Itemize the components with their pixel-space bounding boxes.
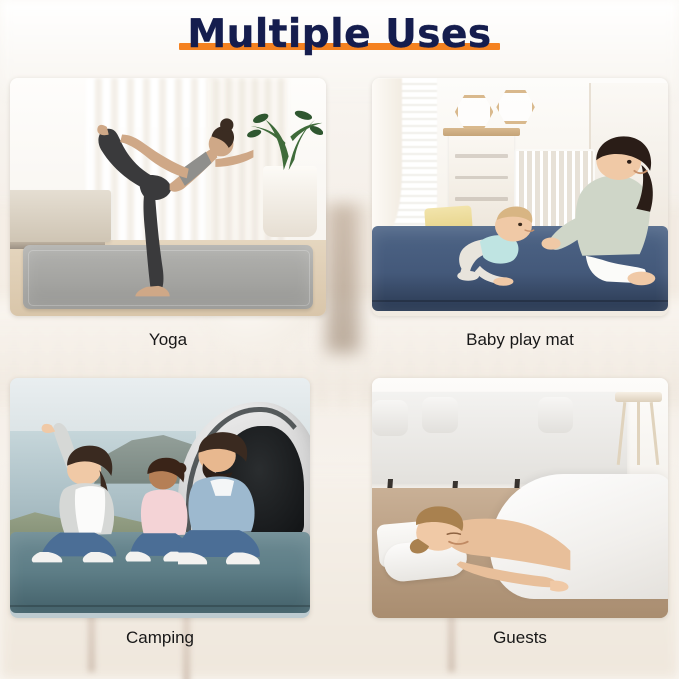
poster-title-block: Multiple Uses (0, 14, 679, 56)
use-case-card-baby-play-mat[interactable]: Baby play mat (372, 78, 668, 316)
use-case-card-camping[interactable]: Camping (10, 378, 310, 618)
photo-guests (372, 378, 668, 618)
sofa-bolster-cushion (538, 397, 574, 433)
caption-yoga: Yoga (10, 330, 326, 350)
sleeping-woman-figure (396, 498, 580, 604)
living-room-sofa (372, 392, 627, 483)
baby-figure (443, 183, 544, 290)
page-title: Multiple Uses (187, 12, 491, 57)
side-table-leg (617, 402, 627, 465)
camping-woman-figure (28, 421, 130, 570)
camping-man-figure (178, 426, 280, 575)
side-table-top (615, 392, 662, 401)
side-table (615, 392, 662, 469)
white-curtain (372, 78, 402, 230)
product-feature-poster: Multiple Uses (0, 0, 679, 679)
side-table-leg (637, 402, 640, 465)
photo-yoga (10, 78, 326, 316)
yoga-figure (35, 85, 281, 304)
hexagon-shelf-icon (455, 95, 494, 130)
photo-baby-play-mat (372, 78, 668, 316)
use-case-card-yoga[interactable]: Yoga (10, 78, 326, 316)
side-table-leg (649, 402, 659, 465)
sofa-arm-left (372, 400, 408, 436)
dresser-drawer (455, 176, 508, 180)
sofa-bolster-cushion (422, 397, 458, 433)
dresser-wood-top (443, 128, 520, 136)
use-case-grid: Yoga (0, 72, 679, 672)
use-case-card-guests[interactable]: Guests (372, 378, 668, 618)
caption-baby-play-mat: Baby play mat (372, 330, 668, 350)
photo-camping (10, 378, 310, 618)
mother-figure (532, 130, 662, 297)
dresser-drawer (455, 154, 508, 158)
hexagon-shelf-icon (496, 90, 535, 125)
caption-camping: Camping (10, 628, 310, 648)
caption-guests: Guests (372, 628, 668, 648)
